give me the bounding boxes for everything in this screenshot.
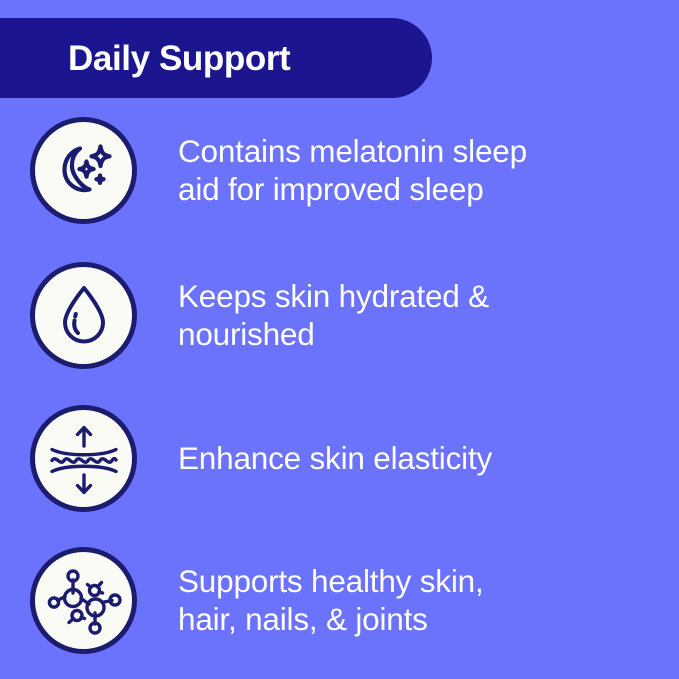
header-banner: Daily Support — [0, 18, 432, 98]
feature-label: Contains melatonin sleep aid for improve… — [178, 132, 679, 209]
feature-row: Enhance skin elasticity — [0, 404, 679, 512]
feature-row: Keeps skin hydrated & nourished — [0, 261, 679, 369]
moon-stars-icon — [30, 117, 137, 224]
feature-row: Contains melatonin sleep aid for improve… — [0, 116, 679, 224]
infographic-panel: Daily Support Contains melatonin sleep a… — [0, 0, 679, 679]
water-drop-icon — [30, 262, 137, 369]
feature-label: Supports healthy skin, hair, nails, & jo… — [178, 562, 679, 639]
page-title: Daily Support — [0, 41, 290, 76]
skin-elasticity-icon — [30, 405, 137, 512]
feature-row: Supports healthy skin, hair, nails, & jo… — [0, 546, 679, 654]
molecule-icon — [30, 547, 137, 654]
feature-label: Enhance skin elasticity — [178, 439, 679, 477]
feature-label: Keeps skin hydrated & nourished — [178, 277, 679, 354]
